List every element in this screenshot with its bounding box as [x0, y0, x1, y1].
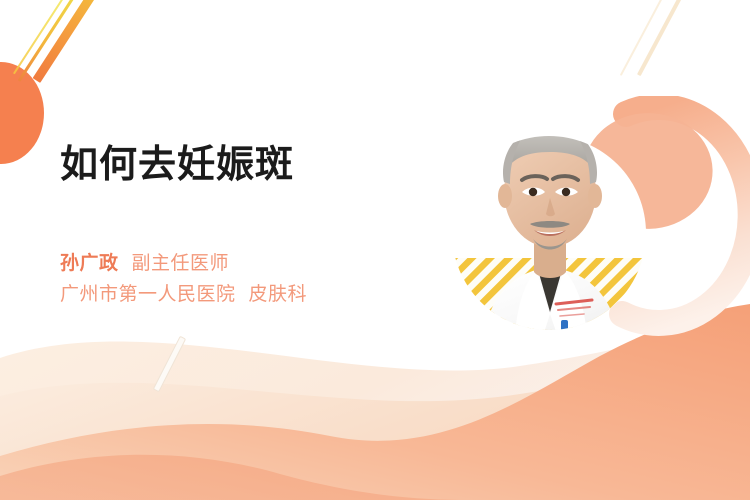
hospital-name: 广州市第一人民医院 — [60, 283, 236, 305]
page-title: 如何去妊娠斑 — [60, 142, 294, 188]
pen — [561, 320, 568, 338]
doctor-credentials: 孙广政副主任医师 广州市第一人民医院皮肤科 — [60, 248, 307, 310]
outlined-stripe-bottom — [140, 332, 210, 402]
doctor-topic-card: 如何去妊娠斑 孙广政副主任医师 广州市第一人民医院皮肤科 — [0, 0, 750, 500]
stripe-thin-inner — [18, 0, 82, 82]
stripe-outline — [153, 336, 186, 393]
department-name: 皮肤科 — [249, 283, 308, 305]
stripe-thick — [33, 0, 105, 83]
credentials-row-hospital: 广州市第一人民医院皮肤科 — [60, 279, 307, 310]
id-badge — [534, 340, 588, 356]
credentials-row-name: 孙广政副主任医师 — [60, 248, 307, 279]
orange-circle-decoration — [0, 62, 44, 164]
portrait-clip — [452, 108, 647, 358]
doctor-portrait — [452, 108, 647, 358]
stripe-thin-outer — [13, 0, 69, 74]
wave-mid — [0, 340, 750, 500]
doctor-name: 孙广政 — [60, 252, 119, 274]
stripe-faint-inner — [637, 0, 695, 76]
doctor-title: 副主任医师 — [132, 252, 230, 274]
stripe-faint-outer — [620, 0, 674, 76]
wave-orange-deep — [0, 455, 470, 500]
diagonal-stripes-top-right — [602, 0, 722, 96]
diagonal-stripes-top-left — [18, 0, 158, 102]
